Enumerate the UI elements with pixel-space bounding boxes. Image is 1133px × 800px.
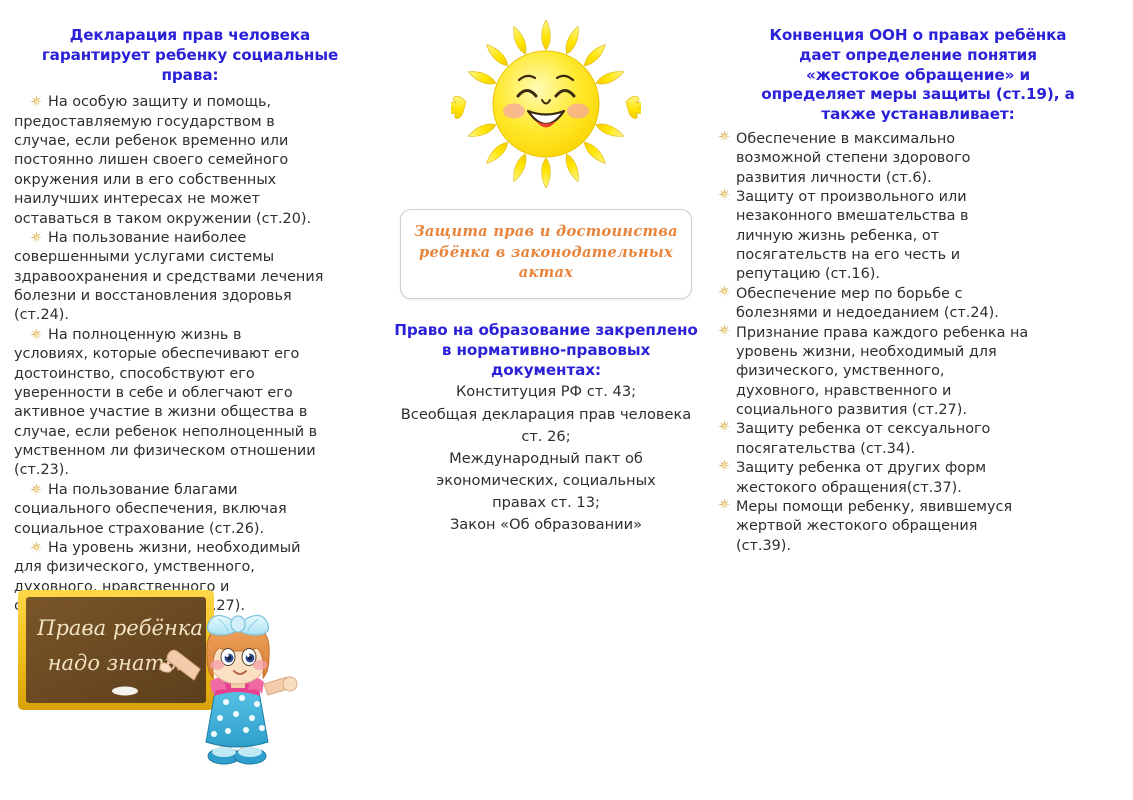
- brochure-page: Декларация прав человека гарантирует реб…: [0, 0, 1133, 800]
- right-list-item: Обеспечение мер по борьбе с болезнями и …: [718, 285, 1118, 324]
- left-column: Декларация прав человека гарантирует реб…: [14, 0, 366, 616]
- sunburst-bullet-icon: [30, 541, 43, 554]
- left-list-item: На особую защиту и помощь, предоставляем…: [14, 93, 366, 229]
- sun-hand-right: [626, 96, 641, 118]
- right-column: Конвенция ООН о правах ребёнка дает опре…: [718, 0, 1118, 556]
- law-protection-box-text: Защита прав и достоинства ребёнка в зако…: [411, 222, 681, 284]
- sunburst-bullet-icon: [30, 231, 43, 244]
- right-list-item-text: Обеспечение в максимально возможной степ…: [736, 130, 1118, 188]
- sunburst-bullet-icon: [30, 328, 43, 341]
- sunburst-bullet-icon: [30, 95, 43, 108]
- sunburst-bullet-icon: [718, 324, 731, 337]
- chalkboard-scene: Права ребёнка надо знать!: [8, 588, 338, 793]
- sunburst-bullet-icon: [718, 459, 731, 472]
- left-list-item-text: На пользование наиболее совершенными усл…: [14, 230, 323, 324]
- right-list-item: Защиту ребенка от сексуального посягател…: [718, 420, 1118, 459]
- hair-bow: [208, 615, 269, 635]
- right-list-item-text: Признание права каждого ребенка на урове…: [736, 324, 1118, 421]
- sunburst-bullet-icon: [718, 188, 731, 201]
- sunburst-bullet-icon: [30, 483, 43, 496]
- sunburst-bullet-icon: [718, 285, 731, 298]
- smiling-sun-icon: [451, 14, 641, 199]
- right-list-item: Обеспечение в максимально возможной степ…: [718, 130, 1118, 188]
- right-list-item-text: Защиту ребенка от других форм жестокого …: [736, 459, 1118, 498]
- center-column-heading: Право на образование закреплено в нормат…: [346, 321, 746, 380]
- chalkboard-line-1: Права ребёнка: [36, 616, 203, 640]
- right-list-item-text: Защиту ребенка от сексуального посягател…: [736, 420, 1118, 459]
- right-column-list: Обеспечение в максимально возможной степ…: [718, 130, 1118, 556]
- left-list-item: На пользование наиболее совершенными усл…: [14, 229, 366, 326]
- right-list-item: Защиту ребенка от других форм жестокого …: [718, 459, 1118, 498]
- sunburst-bullet-icon: [718, 130, 731, 143]
- chalkboard-surface: [26, 597, 206, 703]
- left-list-item-text: На пользование благами социального обесп…: [14, 482, 287, 537]
- sun-illustration-wrap: [378, 14, 714, 199]
- left-list-item-text: На особую защиту и помощь, предоставляем…: [14, 94, 311, 226]
- right-list-item: Меры помощи ребенку, явившемуся жертвой …: [718, 498, 1118, 556]
- right-list-item: Защиту от произвольного или незаконного …: [718, 188, 1118, 285]
- right-list-item-text: Обеспечение мер по борьбе с болезнями и …: [736, 285, 1118, 324]
- left-column-list: На особую защиту и помощь, предоставляем…: [14, 93, 366, 616]
- sunburst-bullet-icon: [718, 420, 731, 433]
- chalk-piece: [112, 687, 138, 696]
- right-list-item-text: Меры помощи ребенку, явившемуся жертвой …: [736, 498, 1118, 556]
- right-list-item-text: Защиту от произвольного или незаконного …: [736, 188, 1118, 285]
- sunburst-bullet-icon: [718, 498, 731, 511]
- center-column: Защита прав и достоинства ребёнка в зако…: [378, 0, 714, 537]
- center-documents-list: Конституция РФ ст. 43; Всеобщая декларац…: [346, 381, 746, 536]
- left-list-item-text: На полноценную жизнь в условиях, которые…: [14, 327, 317, 479]
- sun-hand-left: [451, 96, 466, 118]
- law-protection-box: Защита прав и достоинства ребёнка в зако…: [400, 209, 692, 299]
- left-list-item: На пользование благами социального обесп…: [14, 481, 366, 539]
- right-list-item: Признание права каждого ребенка на урове…: [718, 324, 1118, 421]
- left-list-item: На полноценную жизнь в условиях, которые…: [14, 326, 366, 481]
- left-column-heading: Декларация прав человека гарантирует реб…: [14, 26, 366, 85]
- right-column-heading: Конвенция ООН о правах ребёнка дает опре…: [718, 26, 1118, 125]
